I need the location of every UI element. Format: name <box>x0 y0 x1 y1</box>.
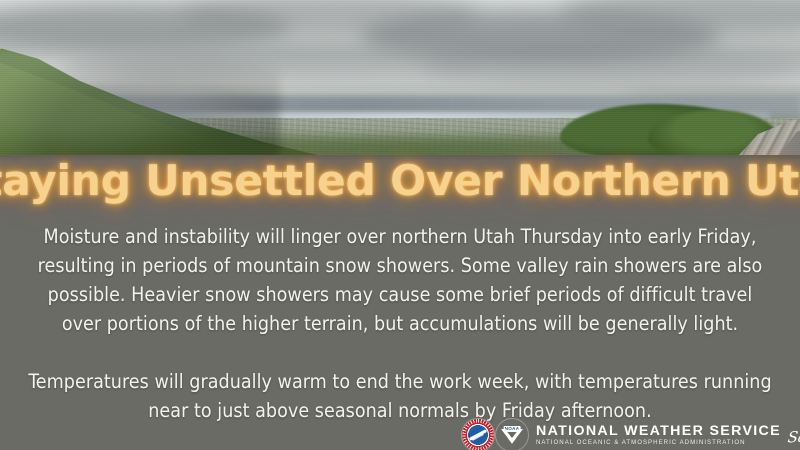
noaa-seal-icon: NOAA <box>496 419 528 450</box>
agency-name: NATIONAL WEATHER SERVICE <box>536 424 781 439</box>
page-title: Staying Unsettled Over Northern Utah <box>0 157 800 205</box>
forecast-discussion-text: Moisture and instability will linger ove… <box>26 222 774 425</box>
cloud-shape <box>360 10 720 62</box>
national-weather-service-seal-icon <box>462 419 494 450</box>
cloud-shape <box>420 48 800 86</box>
cloud-shape <box>240 72 670 98</box>
forecast-paragraph: Moisture and instability will linger ove… <box>26 222 774 338</box>
salt-lake-valley-overlook-photo <box>0 0 800 158</box>
parent-agency-name: NATIONAL OCEANIC & ATMOSPHERIC ADMINISTR… <box>536 439 781 447</box>
weather-briefing-graphic: Staying Unsettled Over Northern Utah Moi… <box>0 0 800 450</box>
slope-shading <box>0 50 280 158</box>
seal-ring-text <box>462 419 494 450</box>
cloud-shape <box>0 4 290 50</box>
forecast-office-label: Salt Lake City, UT <box>787 424 800 446</box>
agency-logo-lockup: NOAA NATIONAL WEATHER SERVICE NATIONAL O… <box>462 418 798 450</box>
forecast-paragraph: Temperatures will gradually warm to end … <box>26 367 774 425</box>
agency-name-block: NATIONAL WEATHER SERVICE NATIONAL OCEANI… <box>536 424 781 447</box>
cloud-shape <box>560 0 800 34</box>
cloud-shape <box>180 0 480 34</box>
